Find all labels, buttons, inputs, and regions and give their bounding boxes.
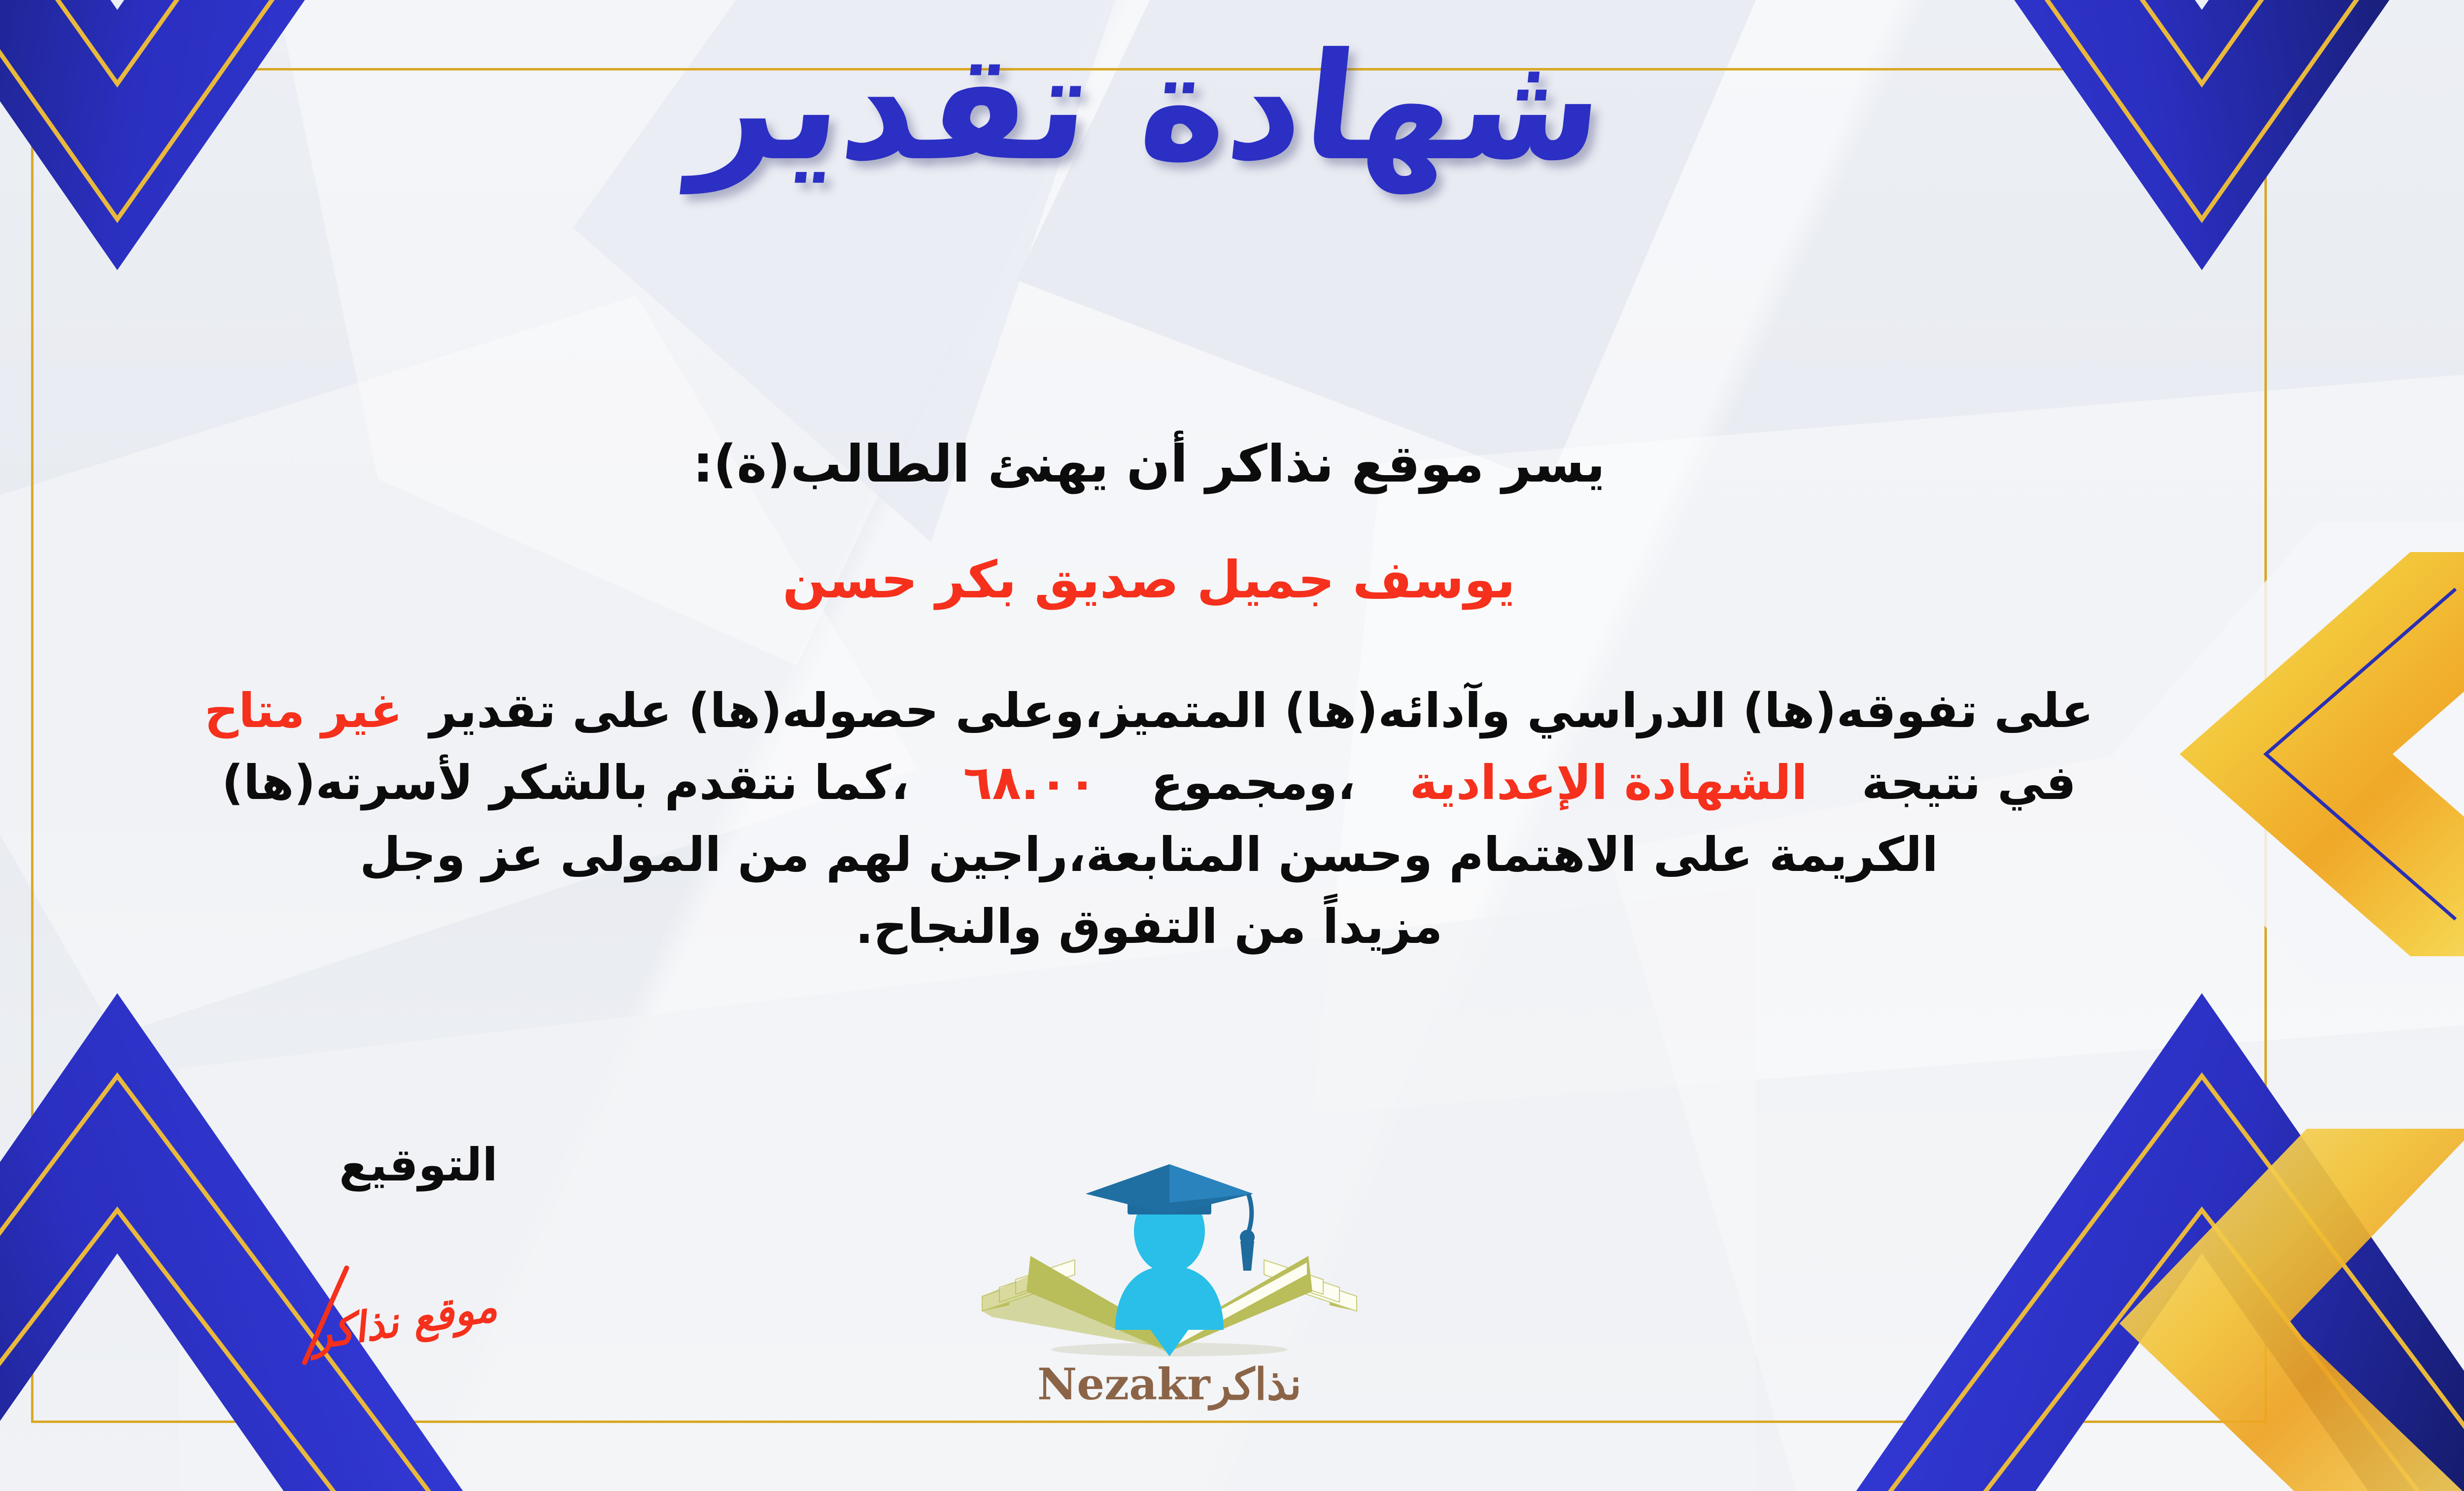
body-line-5: الكريمة على الاهتمام وحسن المتابعة،راجين… [0, 819, 2341, 891]
body-line-4-middle: ،ومجموع [1151, 755, 1356, 810]
brand-logo: نذاكرNezakr [953, 1129, 1386, 1410]
body-line-4-suffix: ،كما نتقدم بالشكر لأسرته(ها) [222, 755, 909, 810]
total-score: ٦٨.٠٠ [963, 755, 1097, 810]
logo-brand-latin: Nezakr [1037, 1358, 1210, 1410]
body-line-3-text: على تفوقه(ها) الدراسي وآدائه(ها) المتميز… [430, 683, 2094, 738]
exam-name: الشهادة الإعدادية [1409, 755, 1807, 810]
grade-value: غير متاح [205, 683, 403, 738]
signature-label: التوقيع [339, 1139, 498, 1191]
body-line-3: على تفوقه(ها) الدراسي وآدائه(ها) المتميز… [0, 675, 2341, 747]
body-line-6: مزيداً من التفوق والنجاح. [0, 891, 2341, 963]
certificate-content: شهادة تقدير يسر موقع نذاكر أن يهنئ الطال… [0, 0, 2464, 1491]
greeting-line: يسر موقع نذاكر أن يهنئ الطالب(ة): [0, 434, 2464, 494]
page-title: شهادة تقدير [0, 30, 2464, 185]
body-paragraph: على تفوقه(ها) الدراسي وآدائه(ها) المتميز… [0, 675, 2341, 963]
body-line-4-prefix: في نتيجة [1862, 755, 2076, 810]
student-name: يوسف جميل صديق بكر حسن [0, 550, 2464, 610]
certificate-canvas: شهادة تقدير يسر موقع نذاكر أن يهنئ الطال… [0, 0, 2464, 1491]
logo-wordmark: نذاكرNezakr [953, 1358, 1386, 1410]
logo-brand-arabic: نذاكر [1210, 1358, 1302, 1410]
body-line-4: في نتيجةالشهادة الإعدادية،ومجموع٦٨.٠٠،كم… [0, 747, 2341, 819]
